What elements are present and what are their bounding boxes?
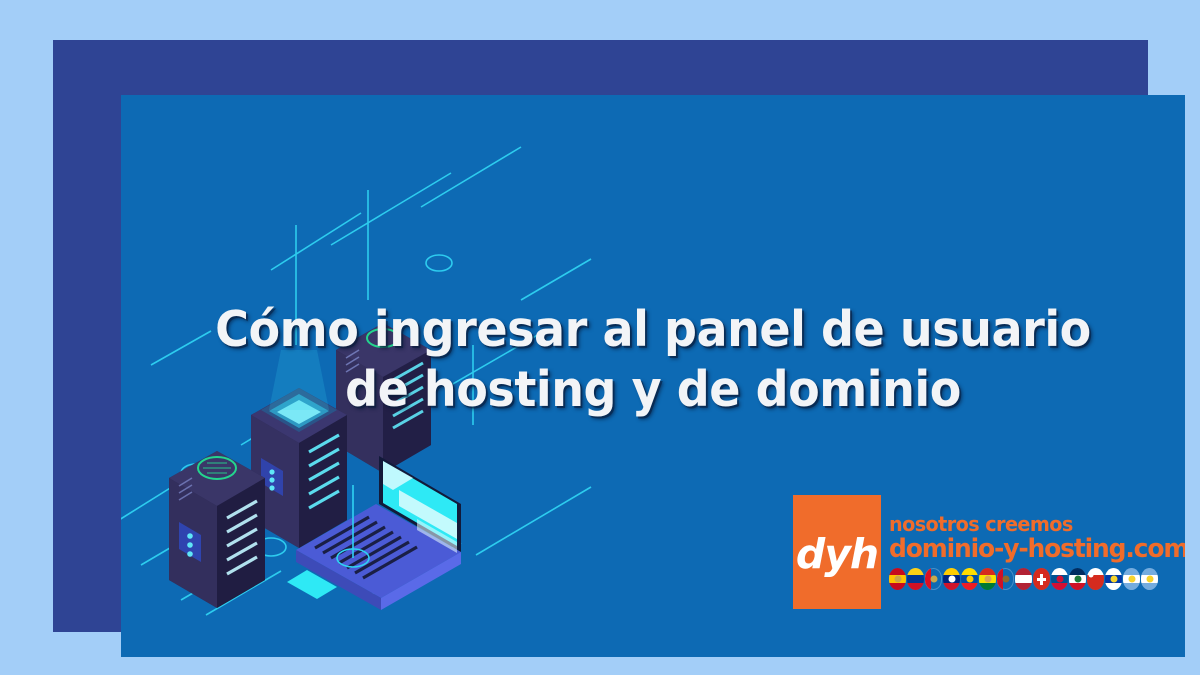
flag-ecuador-icon	[961, 568, 978, 590]
flag-panama-icon	[1051, 568, 1068, 590]
flag-argentina-icon	[1123, 568, 1140, 590]
flag-uruguay-icon	[1105, 568, 1122, 590]
title-line-2: de hosting y de dominio	[153, 360, 1153, 420]
flag-usa-icon	[1015, 568, 1032, 590]
flag-mexico-icon	[997, 568, 1014, 590]
dyh-logo[interactable]: dyh nosotros creemos dominio-y-hosting.c…	[793, 495, 1173, 620]
logo-tagline: nosotros creemos	[889, 513, 1160, 535]
flag-dominican-republic-icon	[1069, 568, 1086, 590]
flag-colombia-icon	[907, 568, 924, 590]
flag-chile-icon	[1087, 568, 1104, 590]
logo-domain: dominio-y-hosting.com	[889, 535, 1160, 564]
flag-row	[889, 568, 1171, 590]
logo-mark: dyh	[793, 495, 881, 609]
flag-venezuela-icon	[943, 568, 960, 590]
logo-mark-text: dyh	[796, 534, 878, 575]
flag-argentina-2-icon	[1141, 568, 1158, 590]
banner: Cómo ingresar al panel de usuario de hos…	[0, 0, 1200, 675]
flag-peru-icon	[925, 568, 942, 590]
logo-text-block: nosotros creemos dominio-y-hosting.com	[889, 513, 1171, 590]
server-rack-left	[169, 451, 265, 608]
title-line-1: Cómo ingresar al panel de usuario	[153, 300, 1153, 360]
banner-canvas: Cómo ingresar al panel de usuario de hos…	[121, 95, 1185, 657]
flag-spain-icon	[889, 568, 906, 590]
banner-frame: Cómo ingresar al panel de usuario de hos…	[53, 40, 1148, 632]
flag-bolivia-icon	[979, 568, 996, 590]
banner-title: Cómo ingresar al panel de usuario de hos…	[121, 300, 1185, 420]
flag-switzerland-icon	[1033, 568, 1050, 590]
